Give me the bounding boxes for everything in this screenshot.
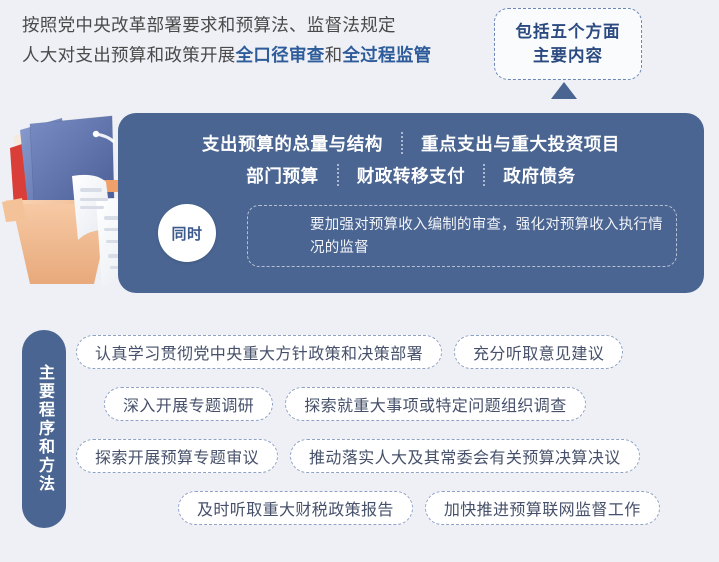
method-pill[interactable]: 深入开展专题调研 (104, 387, 273, 421)
methods-row-4: 及时听取重大财税政策报告 加快推进预算联网监督工作 (76, 486, 712, 530)
infographic-root: 按照党中央改革部署要求和预算法、监督法规定 人大对支出预算和政策开展全口径审查和… (0, 0, 719, 562)
header-highlight-1: 全口径审查 (236, 45, 325, 65)
note-chip-label: 同时 (158, 204, 216, 262)
methods-row-3: 探索开展预算专题审议 推动落实人大及其常委会有关预算决算决议 (76, 434, 712, 478)
panel-item-2: 重点支出与重大投资项目 (407, 131, 634, 156)
panel-item-3: 部门预算 (232, 163, 332, 188)
panel-item-5: 政府债务 (489, 163, 589, 188)
panel-note-box: 同时 要加强对预算收入编制的审查，强化对预算收入执行情况的监督 (247, 205, 677, 267)
header-line-1: 按照党中央改革部署要求和预算法、监督法规定 (22, 10, 492, 40)
methods-row-2: 深入开展专题调研 探索就重大事项或特定问题组织调查 (76, 382, 712, 426)
header-line-2: 人大对支出预算和政策开展全口径审查和全过程监管 (22, 40, 492, 70)
panel-divider-icon (483, 164, 485, 186)
summary-badge: 包括五个方面 主要内容 (494, 8, 642, 80)
main-content-panel: 支出预算的总量与结构 重点支出与重大投资项目 部门预算 财政转移支付 政府债务 … (118, 113, 704, 293)
panel-item-rows: 支出预算的总量与结构 重点支出与重大投资项目 部门预算 财政转移支付 政府债务 (118, 127, 704, 191)
panel-row-2: 部门预算 财政转移支付 政府债务 (118, 159, 704, 191)
summary-badge-line-1: 包括五个方面 (516, 20, 621, 44)
method-pill[interactable]: 加快推进预算联网监督工作 (425, 491, 660, 525)
header-line-2-prefix: 人大对支出预算和政策开展 (22, 45, 236, 65)
header-text: 按照党中央改革部署要求和预算法、监督法规定 人大对支出预算和政策开展全口径审查和… (22, 10, 492, 70)
method-pill[interactable]: 探索就重大事项或特定问题组织调查 (285, 387, 585, 421)
method-pill[interactable]: 及时听取重大财税政策报告 (178, 491, 413, 525)
method-pill[interactable]: 探索开展预算专题审议 (76, 439, 278, 473)
methods-pill-rows: 认真学习贯彻党中央重大方针政策和决策部署 充分听取意见建议 深入开展专题调研 探… (76, 330, 712, 538)
methods-section-label-text: 主要程序和方法 (36, 364, 52, 494)
method-pill[interactable]: 推动落实人大及其常委会有关预算决算决议 (290, 439, 640, 473)
panel-item-4: 财政转移支付 (343, 163, 480, 188)
methods-section-label: 主要程序和方法 (22, 330, 66, 528)
panel-row-1: 支出预算的总量与结构 重点支出与重大投资项目 (118, 127, 704, 159)
header-line-2-mid: 和 (325, 45, 343, 65)
methods-row-1: 认真学习贯彻党中央重大方针政策和决策部署 充分听取意见建议 (76, 330, 712, 374)
panel-divider-icon (337, 164, 339, 186)
method-pill[interactable]: 充分听取意见建议 (454, 335, 623, 369)
summary-badge-line-2: 主要内容 (533, 44, 603, 68)
header-highlight-2: 全过程监管 (342, 45, 431, 65)
panel-divider-icon (401, 132, 403, 154)
badge-pointer-arrow-icon (551, 82, 577, 99)
panel-item-1: 支出预算的总量与结构 (188, 131, 397, 156)
method-pill[interactable]: 认真学习贯彻党中央重大方针政策和决策部署 (76, 335, 442, 369)
note-text: 要加强对预算收入编制的审查，强化对预算收入执行情况的监督 (310, 214, 666, 260)
